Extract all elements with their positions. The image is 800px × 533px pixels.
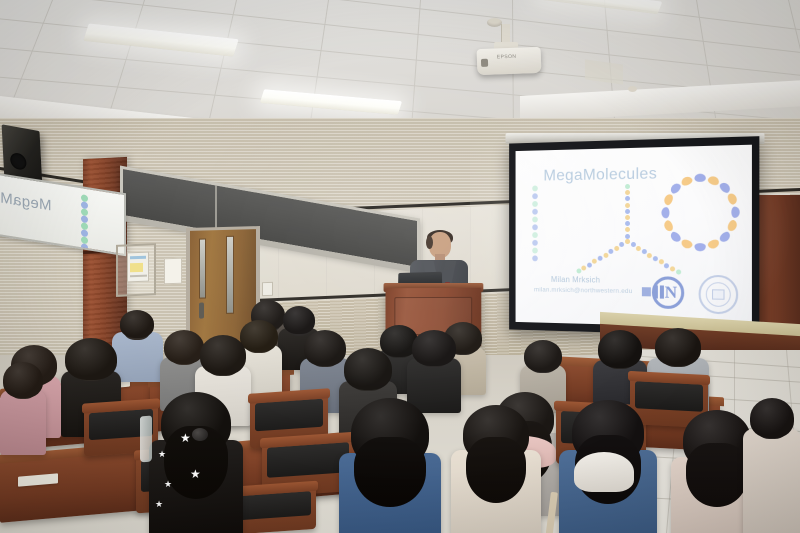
student-row4-denim [560,400,656,533]
chair-row1-b-backrest [255,399,323,432]
person-long-hair [354,437,426,507]
jacket-star-motif: ★ [164,480,172,489]
jacket-star-motif: ★ [190,468,201,480]
jacket-star-motif: ★ [180,432,191,444]
person-hair [65,338,117,380]
student-row3-star-jacket: ★★★★★ [150,392,242,533]
person-hair [524,340,562,372]
person-hair [655,328,701,366]
hair-scrunchie [192,428,208,441]
student-row5-left-edge [744,398,800,533]
student-left-far [0,362,46,452]
person-hair [344,348,392,390]
jacket-star-motif: ★ [158,450,166,459]
person-torso [743,429,800,533]
student-row3-yellow [452,405,540,533]
hoodie-hood-white [574,452,634,492]
lecture-hall-photo: EPSON MegaM MegaMo [0,0,800,533]
audience-and-furniture: ★★★★★ [0,0,800,533]
person-long-hair [686,443,749,507]
person-hair [200,335,246,375]
chair-row2-b-backrest [267,442,349,478]
jacket-star-motif: ★ [155,500,163,509]
water-bottle [140,416,152,463]
person-hair [598,330,642,368]
student-row3-blue-stripe [340,398,440,533]
person-hair [120,310,154,338]
person-hair [750,398,794,438]
person-hair [412,330,456,366]
person-torso [0,390,46,455]
person-hair [3,362,43,398]
